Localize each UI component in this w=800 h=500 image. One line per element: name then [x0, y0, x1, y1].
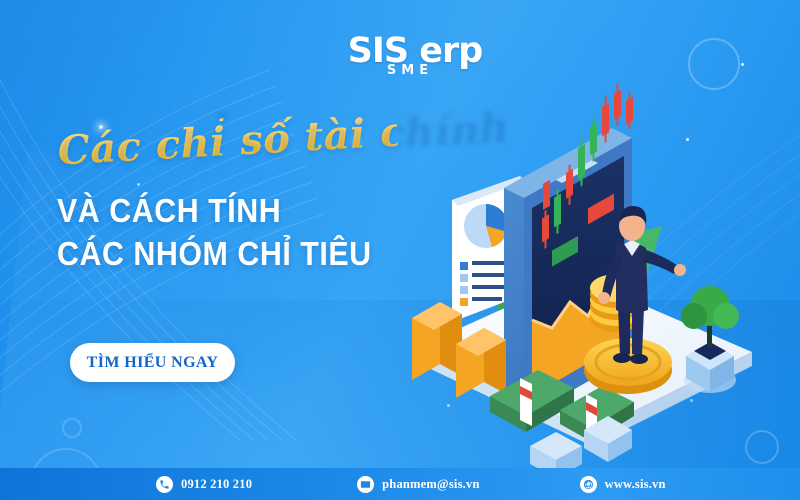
brand-logo-sub: SME — [330, 64, 490, 78]
phone-icon — [156, 476, 173, 493]
footer-email-text: phanmem@sis.vn — [382, 477, 479, 492]
globe-icon — [580, 476, 597, 493]
headline-bold-line-1: VÀ CÁCH TÍNH — [57, 192, 281, 230]
decorative-sparkle — [741, 63, 744, 66]
brand-logo[interactable]: SIS erp SME — [340, 34, 490, 82]
footer-phone-item[interactable]: 0912 210 210 — [156, 476, 252, 493]
decorative-circle — [62, 418, 82, 438]
envelope-icon — [357, 476, 374, 493]
footer-website-text: www.sis.vn — [605, 477, 666, 492]
illustration-finance-scene — [380, 80, 800, 470]
headline-bold-line-2: CÁC NHÓM CHỈ TIÊU — [57, 235, 372, 273]
footer-contact-bar: 0912 210 210 phanmem@sis.vn www.sis.vn — [0, 468, 800, 500]
cta-button[interactable]: TÌM HIỂU NGAY — [70, 343, 235, 382]
footer-phone-text: 0912 210 210 — [181, 477, 252, 492]
pie-chart — [464, 204, 508, 248]
footer-email-item[interactable]: phanmem@sis.vn — [357, 476, 479, 493]
banner-root: SIS erp SME Các chỉ số tài chính VÀ CÁCH… — [0, 0, 800, 500]
cta-button-label: TÌM HIỂU NGAY — [87, 354, 219, 372]
footer-website-item[interactable]: www.sis.vn — [580, 476, 666, 493]
